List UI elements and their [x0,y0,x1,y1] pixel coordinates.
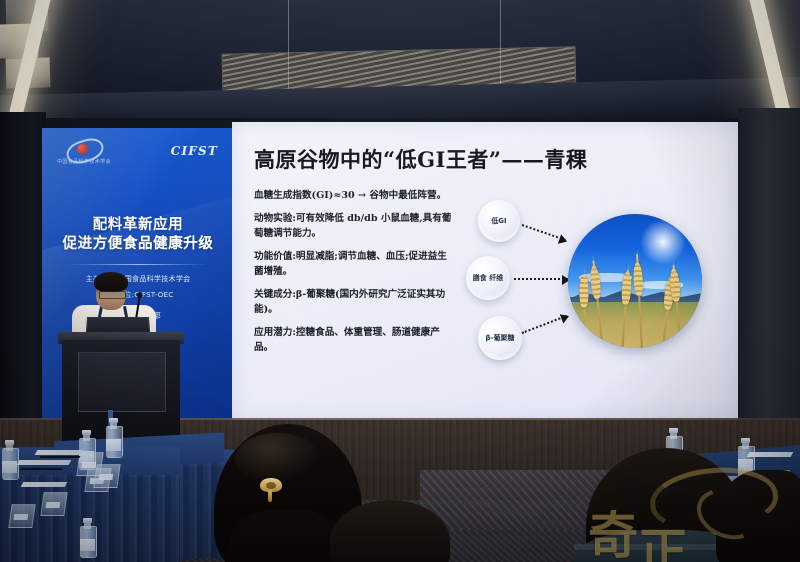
banner-title: 配料革新应用 促进方便食品健康升级 [42,216,234,255]
ceiling [0,0,800,130]
speaker-glasses [99,291,126,299]
barley-photo-circle [568,214,702,348]
cifst-wordmark: CIFST [171,144,218,158]
audience-woman-ponytail [230,510,342,562]
slide-body-text: 血糖生成指数(GI)≈30 → 谷物中最低阵营。 动物实验:可有效降低 db/d… [254,188,454,363]
diagram-bubble-low-gi: 低GI [478,200,520,242]
slide-paragraph: 血糖生成指数(GI)≈30 → 谷物中最低阵营。 [254,188,454,204]
diagram-arrow [522,224,566,241]
slide-title: 高原谷物中的“低GI王者”——青稞 [254,144,587,174]
pen [19,468,62,470]
slide-paragraph: 关键成分:β-葡聚糖(国内外研究广泛证实其功能)。 [254,287,454,318]
photo-sun [640,219,686,265]
document-paper [747,452,794,457]
banner-title-line2: 促进方便食品健康升级 [42,235,234,254]
pen [39,456,80,458]
diagram-arrow [522,315,568,334]
led-pendant-light [0,0,800,130]
projection-screen: 高原谷物中的“低GI王者”——青稞 血糖生成指数(GI)≈30 → 谷物中最低阵… [232,122,738,420]
screenshot-root: 中国食品科学技术学会 CIFST 配料革新应用 促进方便食品健康升级 主办单位:… [0,0,800,562]
document-paper [21,482,68,487]
diagram-arrow [514,278,568,280]
slide-paragraph: 功能价值:明显减脂;调节血糖、血压;促进益生菌增殖。 [254,249,454,280]
slide-paragraph: 应用潜力:控糖食品、体重管理、肠道健康产品。 [254,325,454,356]
water-bottle [80,518,95,558]
led-strip-left [0,0,70,130]
water-bottle [106,418,121,458]
name-tent [8,504,35,528]
gold-hair-clip-stem [268,490,272,502]
logo-dot [77,144,88,154]
speaker-hair [94,272,128,292]
wall-left-column [0,112,46,457]
slide-paragraph: 动物实验:可有效降低 db/db 小鼠血糖,具有葡萄糖调节能力。 [254,211,454,242]
document-paper [35,450,84,455]
name-tent [40,492,67,516]
water-bottle [2,440,17,480]
wall-right-column [738,108,800,438]
logo-caption: 中国食品科学技术学会 [54,158,114,165]
slide-diagram: 低GI 膳食 纤维 β-葡聚糖 [472,200,722,390]
diagram-bubble-beta-glucan: β-葡聚糖 [478,316,522,360]
diagram-bubble-dietary-fiber: 膳食 纤维 [466,256,510,300]
banner-title-line1: 配料革新应用 [42,216,234,235]
audience-person [716,470,800,562]
banner-subtitle-organizer: 主办单位:中国食品科学技术学会 [42,274,234,284]
podium-front-panel [78,352,166,412]
document-paper [17,460,72,465]
name-tent [93,464,120,488]
banner-divider [68,264,208,265]
photo-field [568,302,702,348]
